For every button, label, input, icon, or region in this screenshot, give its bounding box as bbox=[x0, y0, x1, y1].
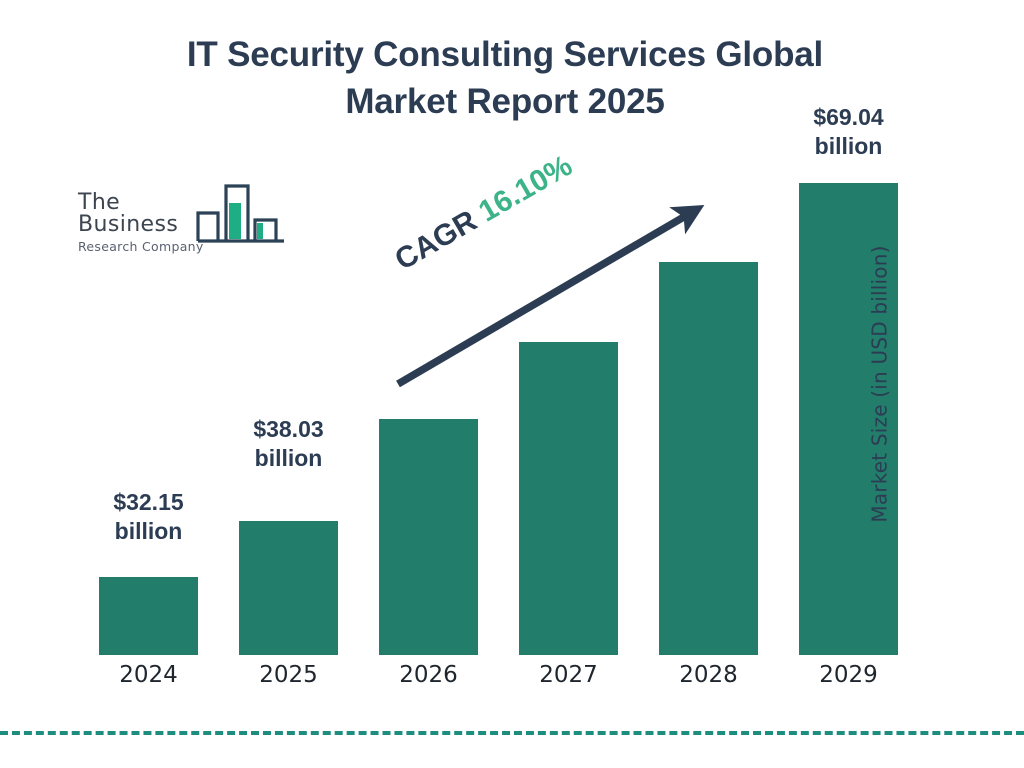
x-tick-2028: 2028 bbox=[659, 662, 758, 688]
y-axis-title: Market Size (in USD billion) bbox=[867, 245, 891, 522]
chart-canvas: IT Security Consulting Services Global M… bbox=[0, 0, 1024, 768]
footer-divider bbox=[0, 731, 1024, 735]
bar-2024[interactable] bbox=[99, 577, 198, 655]
bar-value-2024: $32.15 billion bbox=[88, 488, 209, 547]
x-tick-2024: 2024 bbox=[99, 662, 198, 688]
bar-value-2029: $69.04 billion bbox=[788, 103, 909, 162]
bar-2026[interactable] bbox=[379, 419, 478, 655]
x-tick-2026: 2026 bbox=[379, 662, 478, 688]
x-tick-2027: 2027 bbox=[519, 662, 618, 688]
bar-2027[interactable] bbox=[519, 342, 618, 655]
bar-value-2025: $38.03 billion bbox=[228, 415, 349, 474]
bar-2025[interactable] bbox=[239, 521, 338, 655]
x-tick-2025: 2025 bbox=[239, 662, 338, 688]
x-tick-2029: 2029 bbox=[799, 662, 898, 688]
bar-2028[interactable] bbox=[659, 262, 758, 655]
